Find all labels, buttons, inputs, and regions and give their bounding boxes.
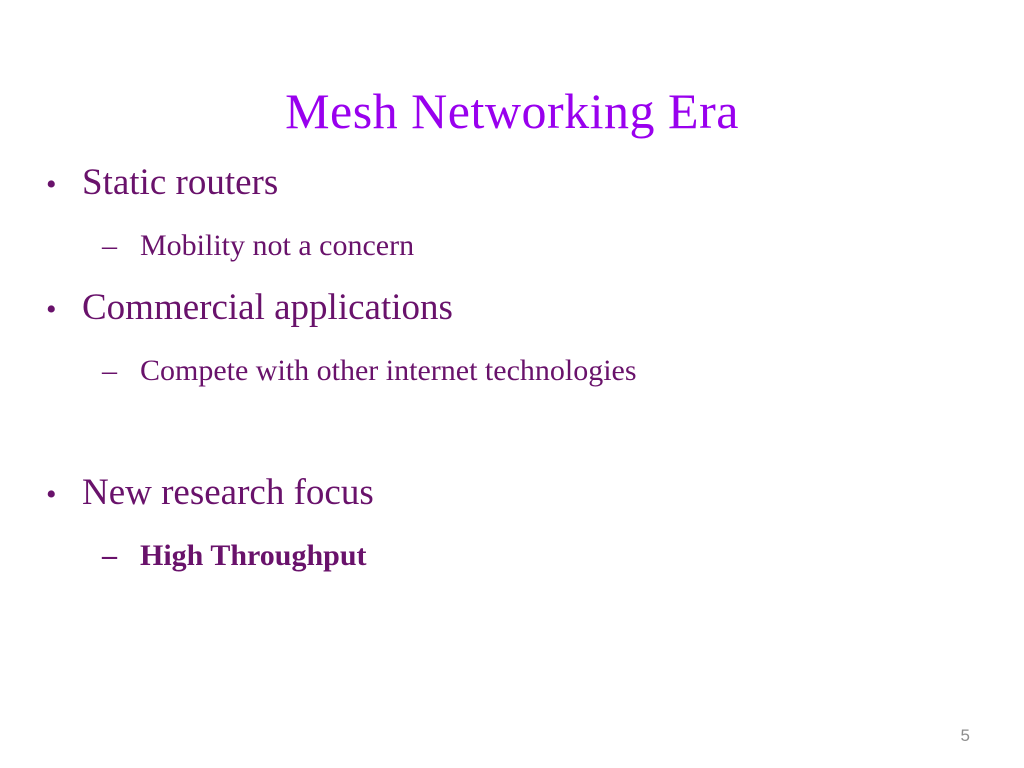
- sub-bullet-text: High Throughput: [140, 525, 976, 587]
- bullet-item-new-research-focus: • New research focus: [46, 462, 976, 525]
- sub-bullet-item-high-throughput: – High Throughput: [46, 525, 976, 587]
- slide-body-content: • Static routers – Mobility not a concer…: [46, 152, 976, 587]
- sub-bullet-item-compete: – Compete with other internet technologi…: [46, 340, 976, 402]
- slide-page-number: 5: [961, 726, 970, 746]
- bullet-marker-icon: •: [46, 464, 82, 525]
- dash-marker-icon: –: [102, 215, 140, 277]
- blank-line-spacer: [46, 402, 976, 462]
- presentation-slide: Mesh Networking Era • Static routers – M…: [0, 0, 1024, 768]
- sub-bullet-item-mobility: – Mobility not a concern: [46, 215, 976, 277]
- bullet-text: Commercial applications: [82, 277, 976, 338]
- dash-marker-icon: –: [102, 340, 140, 402]
- sub-bullet-text: Compete with other internet technologies: [140, 340, 976, 402]
- slide-title: Mesh Networking Era: [0, 82, 1024, 140]
- bullet-item-static-routers: • Static routers: [46, 152, 976, 215]
- sub-bullet-text: Mobility not a concern: [140, 215, 976, 277]
- bullet-item-commercial-applications: • Commercial applications: [46, 277, 976, 340]
- bullet-text: Static routers: [82, 152, 976, 213]
- bullet-marker-icon: •: [46, 279, 82, 340]
- bullet-text: New research focus: [82, 462, 976, 523]
- dash-marker-icon: –: [102, 525, 140, 587]
- bullet-marker-icon: •: [46, 154, 82, 215]
